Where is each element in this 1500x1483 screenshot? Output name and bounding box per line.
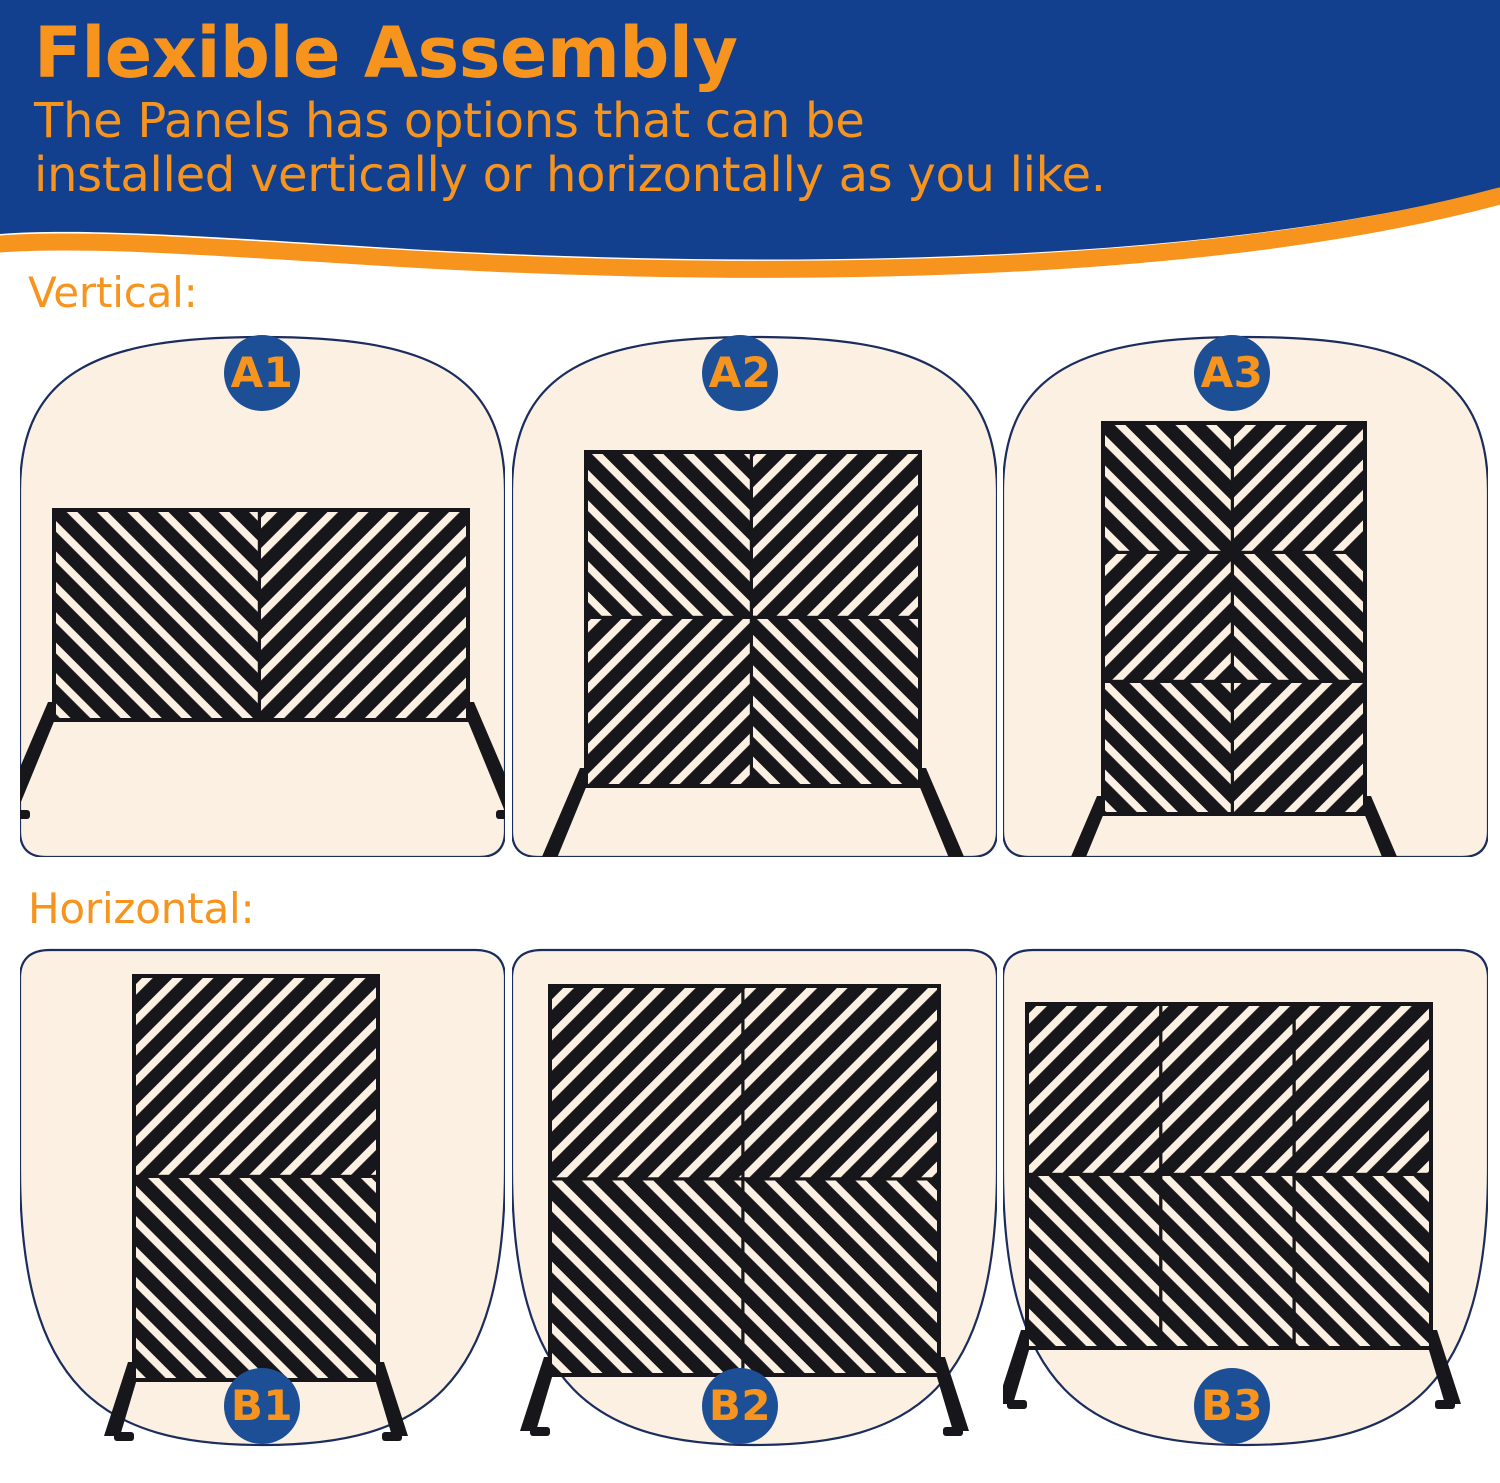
card-badge-label: A2 — [709, 352, 772, 394]
panel-tile-r2c1 — [136, 1178, 376, 1378]
panel-tile-r2c1 — [1029, 1176, 1162, 1346]
card-badge-a2[interactable]: A2 — [702, 335, 778, 411]
privacy-screen-illustration-a3 — [1003, 333, 1488, 857]
section-label-horizontal: Horizontal: — [28, 884, 254, 933]
foot-pad — [943, 1427, 963, 1436]
foot-pad — [1007, 1400, 1027, 1409]
foot-pad — [114, 1432, 134, 1441]
infographic-root: Flexible Assembly The Panels has options… — [0, 0, 1500, 1483]
page-title: Flexible Assembly — [34, 18, 1484, 89]
panel-tile-r1c1 — [1105, 425, 1234, 554]
option-card-a1[interactable] — [20, 333, 505, 857]
panel-tile-r1c1 — [552, 988, 745, 1181]
panel-tile-r1c2 — [753, 454, 918, 619]
panel-tile-r1c2 — [261, 512, 466, 718]
panel-tile-r2c1 — [1105, 554, 1234, 683]
header-banner: Flexible Assembly The Panels has options… — [0, 0, 1500, 340]
card-badge-a3[interactable]: A3 — [1194, 335, 1270, 411]
foot-pad — [1435, 1400, 1455, 1409]
foot-pad — [20, 810, 30, 819]
card-badge-label: B3 — [1201, 1385, 1263, 1427]
panel-tile-r1c1 — [588, 454, 753, 619]
card-badge-label: A3 — [1201, 352, 1264, 394]
card-badge-label: B2 — [709, 1385, 771, 1427]
panel-tile-r2c1 — [552, 1181, 745, 1374]
panel-tile-r2c2 — [745, 1181, 938, 1374]
panel-tile-r2c2 — [1234, 554, 1363, 683]
panel-tile-r2c2 — [753, 619, 918, 784]
card-badge-b1[interactable]: B1 — [224, 1368, 300, 1444]
panel-tile-r2c2 — [1162, 1176, 1295, 1346]
panel-tile-r1c2 — [745, 988, 938, 1181]
foot-pad — [496, 810, 505, 819]
panel-tile-r1c2 — [1162, 1006, 1295, 1176]
card-badge-b2[interactable]: B2 — [702, 1368, 778, 1444]
page-subtitle: The Panels has options that can be insta… — [34, 95, 1484, 203]
panel-tile-r1c1 — [136, 978, 376, 1178]
privacy-screen-illustration-a1 — [20, 333, 505, 857]
subtitle-line-1: The Panels has options that can be — [34, 95, 1484, 149]
section-label-vertical: Vertical: — [28, 268, 198, 317]
panel-tile-r2c3 — [1296, 1176, 1429, 1346]
subtitle-line-2: installed vertically or horizontally as … — [34, 149, 1484, 203]
card-badge-a1[interactable]: A1 — [224, 335, 300, 411]
banner-text-block: Flexible Assembly The Panels has options… — [34, 18, 1484, 203]
panel-tile-r3c2 — [1234, 683, 1363, 812]
foot-pad — [530, 1427, 550, 1436]
card-badge-label: A1 — [231, 352, 294, 394]
option-card-a3[interactable] — [1003, 333, 1488, 857]
panel-tile-r3c1 — [1105, 683, 1234, 812]
panel-tile-r1c1 — [56, 512, 261, 718]
option-card-a2[interactable] — [512, 333, 997, 857]
panel-tile-r2c1 — [588, 619, 753, 784]
privacy-screen-illustration-a2 — [512, 333, 997, 857]
panel-tile-r1c1 — [1029, 1006, 1162, 1176]
panel-tile-r1c2 — [1234, 425, 1363, 554]
card-badge-b3[interactable]: B3 — [1194, 1368, 1270, 1444]
panel-tile-r1c3 — [1296, 1006, 1429, 1176]
foot-pad — [382, 1432, 402, 1441]
card-badge-label: B1 — [231, 1385, 293, 1427]
